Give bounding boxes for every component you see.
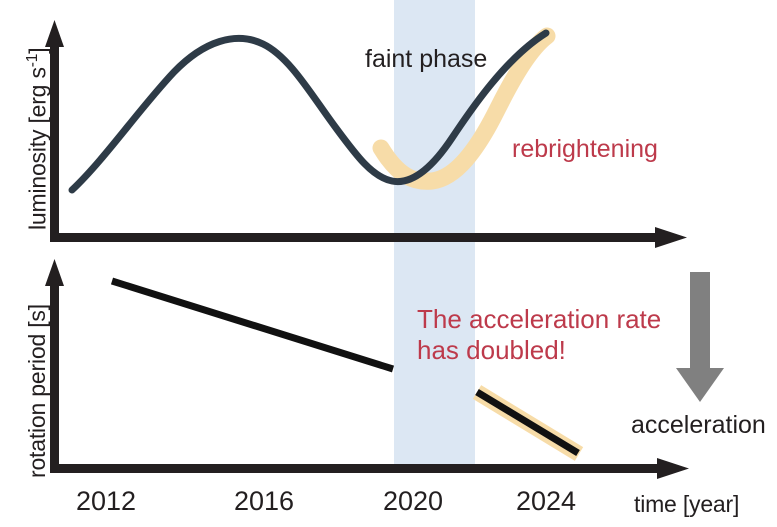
annotation-acceleration-line2: has doubled!	[417, 335, 661, 366]
top-y-axis-arrowhead	[45, 20, 64, 47]
bottom-x-axis-arrowhead	[657, 458, 689, 479]
annotation-faint-phase: faint phase	[365, 45, 487, 75]
acceleration-arrow-head	[676, 368, 724, 402]
acceleration-arrow	[676, 272, 724, 402]
magnetar-evolution-figure: luminosity [erg s-1] rotation period [s]…	[0, 0, 777, 527]
y-label-superscript: -1	[24, 54, 41, 68]
period-line-segment-1	[112, 281, 393, 369]
y-label-tail: ]	[25, 48, 51, 54]
bottom-y-axis-arrowhead	[45, 259, 64, 286]
y-label-text-top: luminosity [erg s	[25, 67, 51, 230]
annotation-acceleration-arrow-label: acceleration	[631, 411, 766, 441]
top-panel-y-axis-label: luminosity [erg s-1]	[24, 48, 52, 230]
x-tick-2020: 2020	[383, 486, 443, 517]
bottom-x-axis-line	[50, 464, 670, 473]
x-tick-2016: 2016	[234, 486, 294, 517]
annotation-rebrightening: rebrightening	[512, 135, 658, 165]
top-x-axis-line	[50, 233, 668, 242]
top-x-axis-arrowhead	[655, 227, 687, 248]
x-axis-label: time [year]	[634, 491, 739, 518]
plot-layer	[0, 0, 777, 527]
annotation-acceleration-doubled: The acceleration rate has doubled!	[417, 304, 661, 365]
annotation-acceleration-line1: The acceleration rate	[417, 304, 661, 335]
period-line-segment-2	[477, 392, 578, 453]
bottom-panel-y-axis-label: rotation period [s]	[24, 304, 51, 478]
bottom-y-axis-line	[50, 278, 59, 472]
acceleration-arrow-shaft	[690, 272, 710, 376]
x-tick-2012: 2012	[76, 486, 136, 517]
x-tick-2024: 2024	[516, 486, 576, 517]
